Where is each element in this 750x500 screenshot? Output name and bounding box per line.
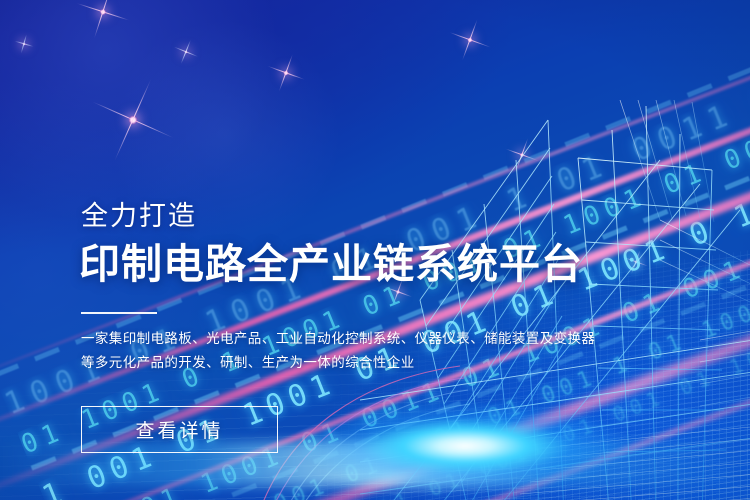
description-line-2: 等多元化产品的开发、研制、生产为一体的综合性企业 [81, 351, 581, 375]
description-text: 一家集印制电路板、光电产品、工业自动化控制系统、仪器仪表、储能装置及变换器 等多… [81, 327, 581, 375]
hero-banner: 1001 01 1001 01 001 1 01 0011 01 100 1 0… [0, 0, 750, 500]
eyebrow-text: 全力打造 [81, 200, 197, 232]
title-divider [81, 312, 157, 314]
view-details-button[interactable]: 查看详情 [81, 406, 278, 453]
banner-content: 全力打造 印制电路全产业链系统平台 一家集印制电路板、光电产品、工业自动化控制系… [81, 0, 601, 500]
description-line-1: 一家集印制电路板、光电产品、工业自动化控制系统、仪器仪表、储能装置及变换器 [81, 327, 581, 351]
page-title: 印制电路全产业链系统平台 [79, 240, 583, 288]
